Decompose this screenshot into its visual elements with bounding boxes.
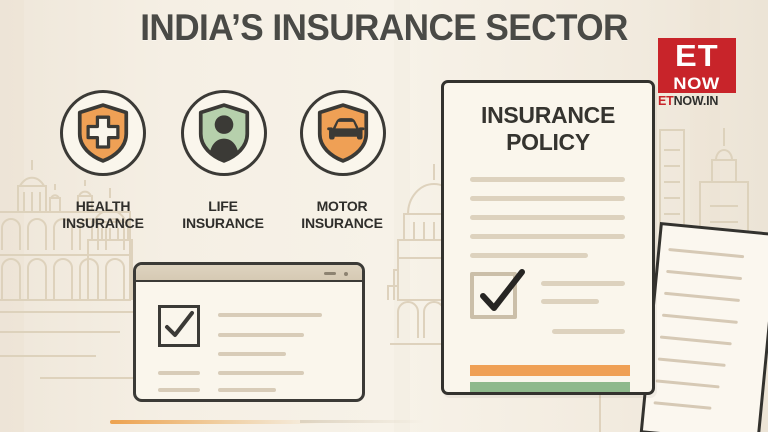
logo-url: ETNOW.IN [658, 94, 750, 108]
infographic-canvas: INDIA’S INSURANCE SECTOR ET NOW ETNOW.IN… [0, 0, 768, 432]
logo-et-block: ET [658, 38, 736, 74]
paper-line [662, 314, 738, 324]
content-line [218, 388, 276, 392]
bottom-accent-line-secondary [300, 420, 425, 423]
checkmark-icon [161, 308, 197, 344]
logo-et-text: ET [675, 40, 719, 71]
paper-line [666, 270, 742, 280]
policy-text-line [470, 234, 625, 239]
policy-detail-line [552, 329, 625, 334]
policy-checkbox[interactable] [470, 272, 517, 319]
logo-url-suffix: NOW.IN [674, 94, 719, 108]
etnow-logo: ET NOW ETNOW.IN [658, 38, 758, 108]
policy-text-line [470, 253, 588, 258]
content-line [218, 371, 304, 375]
secondary-paper [640, 222, 768, 432]
minimize-dash-icon[interactable] [324, 272, 336, 275]
policy-title-line2: POLICY [444, 129, 652, 156]
category-label-motor: MOTOR INSURANCE [272, 198, 412, 232]
logo-now-text: NOW [674, 75, 720, 92]
page-title: INDIA’S INSURANCE SECTOR [19, 6, 749, 50]
policy-detail-line [541, 281, 625, 286]
policy-accent-bar-green [470, 382, 630, 393]
checkmark-icon [472, 264, 530, 318]
category-label-health: HEALTH INSURANCE [33, 198, 173, 232]
logo-url-prefix: ET [658, 94, 674, 108]
policy-accent-bar-orange [470, 365, 630, 376]
category-icon-motor[interactable] [300, 90, 386, 176]
category-icon-health[interactable] [60, 90, 146, 176]
policy-detail-line [541, 299, 599, 304]
paper-line [668, 248, 744, 258]
category-label-health-line2: INSURANCE [33, 215, 173, 232]
policy-text-line [470, 215, 625, 220]
category-icon-life[interactable] [181, 90, 267, 176]
paper-line [658, 357, 726, 367]
browser-window-mockup[interactable] [133, 262, 365, 402]
paper-line [660, 336, 732, 346]
paper-line [656, 379, 720, 388]
shield-person-icon [184, 93, 264, 173]
shield-medical-cross-icon [63, 93, 143, 173]
category-label-motor-line1: MOTOR [272, 198, 412, 215]
content-line [218, 313, 322, 317]
category-label-motor-line2: INSURANCE [272, 215, 412, 232]
bottom-accent-line [110, 420, 320, 424]
content-line [158, 388, 200, 392]
browser-checkbox[interactable] [158, 305, 200, 347]
content-line [218, 352, 286, 356]
policy-text-line [470, 196, 625, 201]
paper-line [664, 292, 740, 302]
logo-now-block: NOW [658, 74, 736, 93]
dot-icon[interactable] [344, 272, 348, 276]
paper-line [654, 401, 712, 410]
content-line [218, 333, 304, 337]
policy-text-line [470, 177, 625, 182]
insurance-policy-document[interactable]: INSURANCE POLICY [441, 80, 655, 395]
policy-title-line1: INSURANCE [444, 102, 652, 129]
shield-car-icon [303, 93, 383, 173]
content-line [158, 371, 200, 375]
policy-title: INSURANCE POLICY [444, 102, 652, 156]
category-label-health-line1: HEALTH [33, 198, 173, 215]
browser-title-bar [136, 265, 362, 282]
